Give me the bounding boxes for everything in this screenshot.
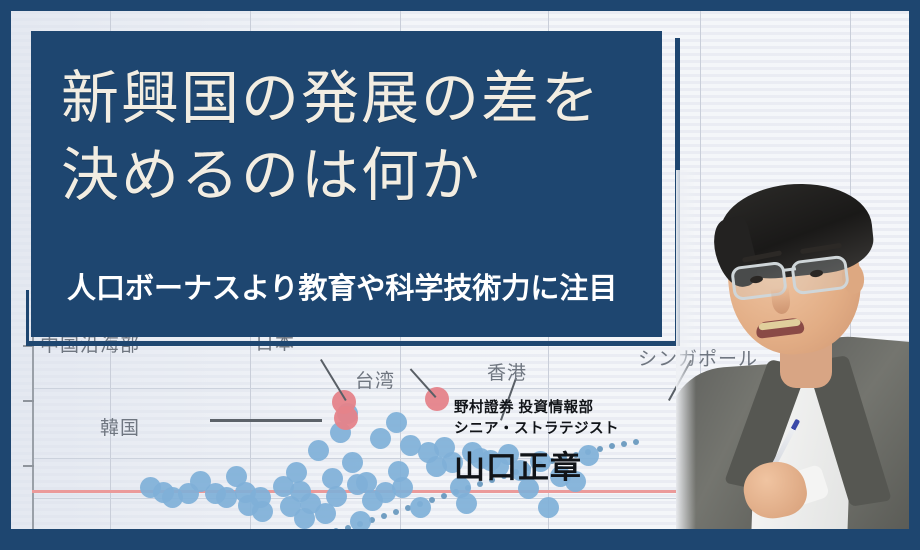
chart-data-point	[386, 412, 407, 433]
chart-trend-marker	[621, 441, 627, 447]
chart-data-point	[370, 428, 391, 449]
chart-data-point	[326, 486, 347, 507]
chart-data-point	[286, 462, 307, 483]
frame-edge-left	[0, 0, 11, 550]
chart-trend-marker	[441, 493, 447, 499]
portrait-left-edge-fade	[676, 170, 696, 550]
chart-data-point	[252, 501, 273, 522]
chart-data-point	[334, 406, 358, 430]
page-title: 新興国の発展の差を 決めるのは何か	[61, 61, 636, 214]
chart-data-point	[322, 468, 343, 489]
chart-data-point	[308, 440, 329, 461]
speaker-byline: 野村證券 投資情報部 シニア・ストラテジスト 山口正章	[454, 398, 619, 487]
chart-data-point	[392, 477, 413, 498]
headline-panel: 新興国の発展の差を 決めるのは何か 人口ボーナスより教育や科学技術力に注目	[31, 31, 662, 337]
page-subtitle: 人口ボーナスより教育や科学技術力に注目	[67, 265, 617, 307]
bracket-vertical-short-accent	[26, 290, 29, 346]
chart-trend-marker	[393, 509, 399, 515]
portrait-photo-speaker	[676, 170, 920, 550]
chart-trend-marker	[381, 513, 387, 519]
chart-data-point	[538, 497, 559, 518]
byline-role: シニア・ストラテジスト	[454, 419, 619, 440]
frame-edge-bottom	[0, 529, 920, 550]
chart-highlight-bar	[210, 419, 322, 422]
chart-y-axis-tick	[23, 400, 34, 402]
frame-edge-top	[0, 0, 920, 11]
chart-trend-marker	[633, 439, 639, 445]
chart-y-axis-tick	[23, 465, 34, 467]
frame-edge-right	[909, 0, 920, 550]
chart-annotation-label: 台湾	[355, 366, 395, 393]
chart-data-point	[216, 487, 237, 508]
byline-organization: 野村證券 投資情報部	[454, 398, 619, 419]
chart-data-point	[456, 493, 477, 514]
chart-annotation-label: 香港	[487, 358, 527, 385]
chart-data-point	[410, 497, 431, 518]
byline-person-name: 山口正章	[454, 442, 619, 487]
article-hero-banner: 中国沿海部日本韓国台湾香港シンガポール 新興国の発展の差を 決めるのは何	[0, 0, 920, 550]
chart-data-point	[350, 511, 371, 530]
bracket-horizontal-accent	[26, 341, 680, 346]
chart-annotation-label: 韓国	[100, 413, 140, 440]
chart-data-point	[342, 452, 363, 473]
